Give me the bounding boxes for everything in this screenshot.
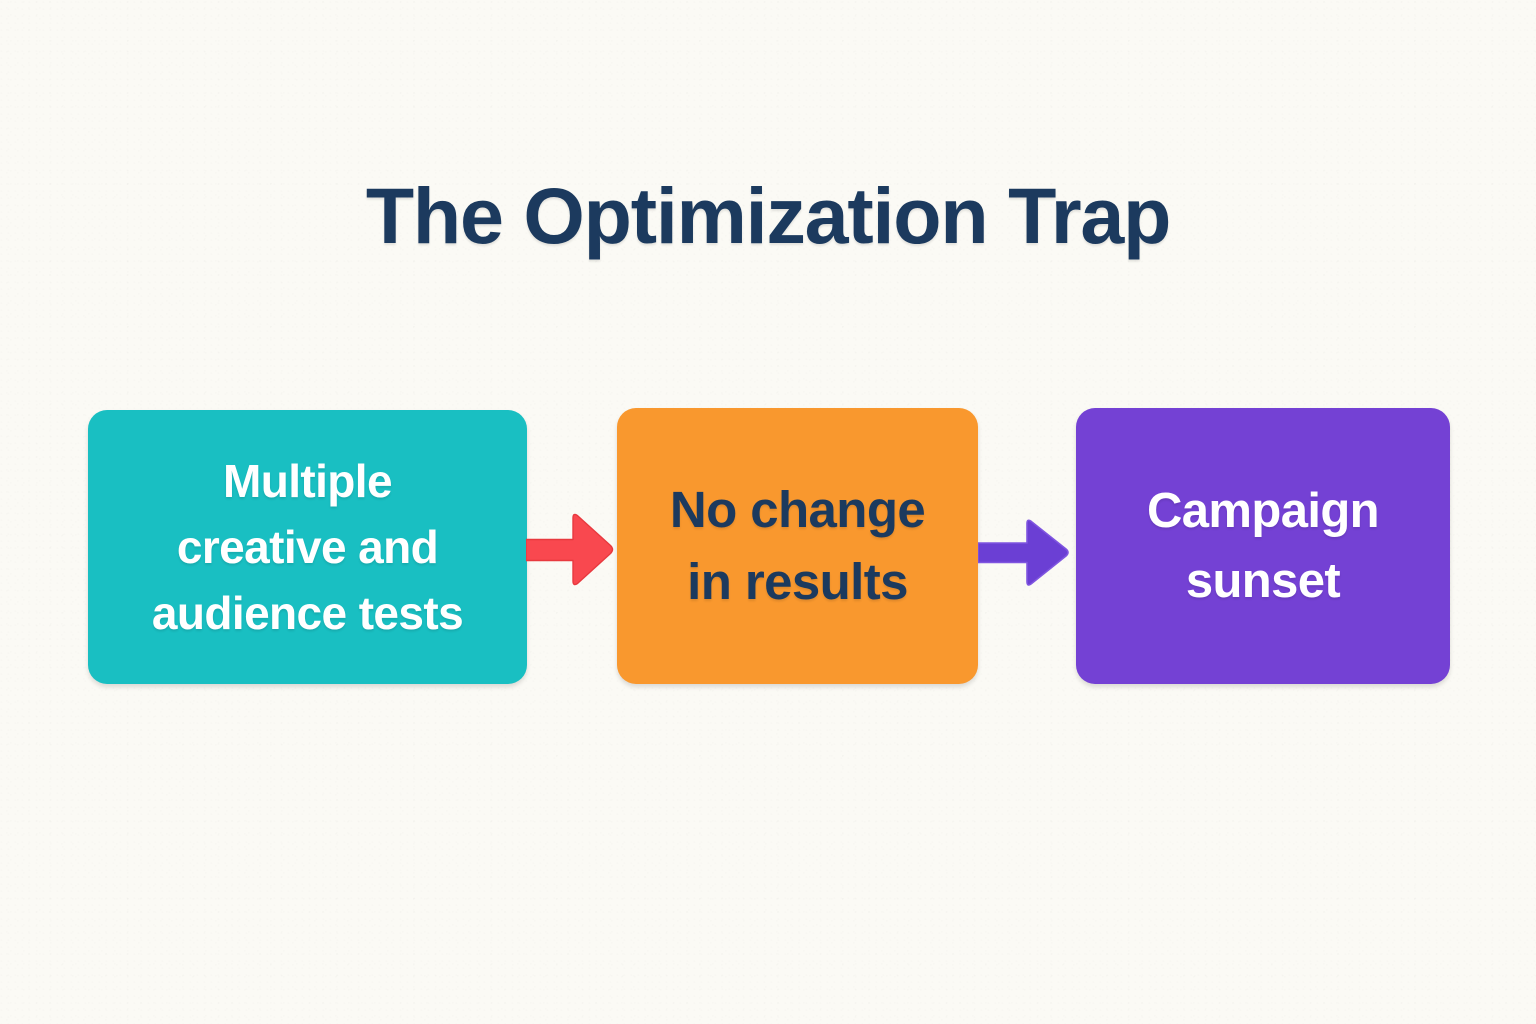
flow-node-label: No change in results [670, 474, 925, 618]
flow-node-label: Multiple creative and audience tests [152, 448, 463, 646]
flow-node-no-change-in-results[interactable]: No change in results [617, 408, 978, 684]
flow-node-campaign-sunset[interactable]: Campaign sunset [1076, 408, 1450, 684]
flow-node-label: Campaign sunset [1147, 476, 1379, 616]
flow-node-multiple-tests[interactable]: Multiple creative and audience tests [88, 410, 527, 684]
flowchart: Multiple creative and audience tests No … [0, 0, 1536, 1024]
flow-arrow-tests-to-nochange-icon [526, 512, 614, 588]
flow-arrow-nochange-to-sunset-icon [978, 518, 1070, 588]
